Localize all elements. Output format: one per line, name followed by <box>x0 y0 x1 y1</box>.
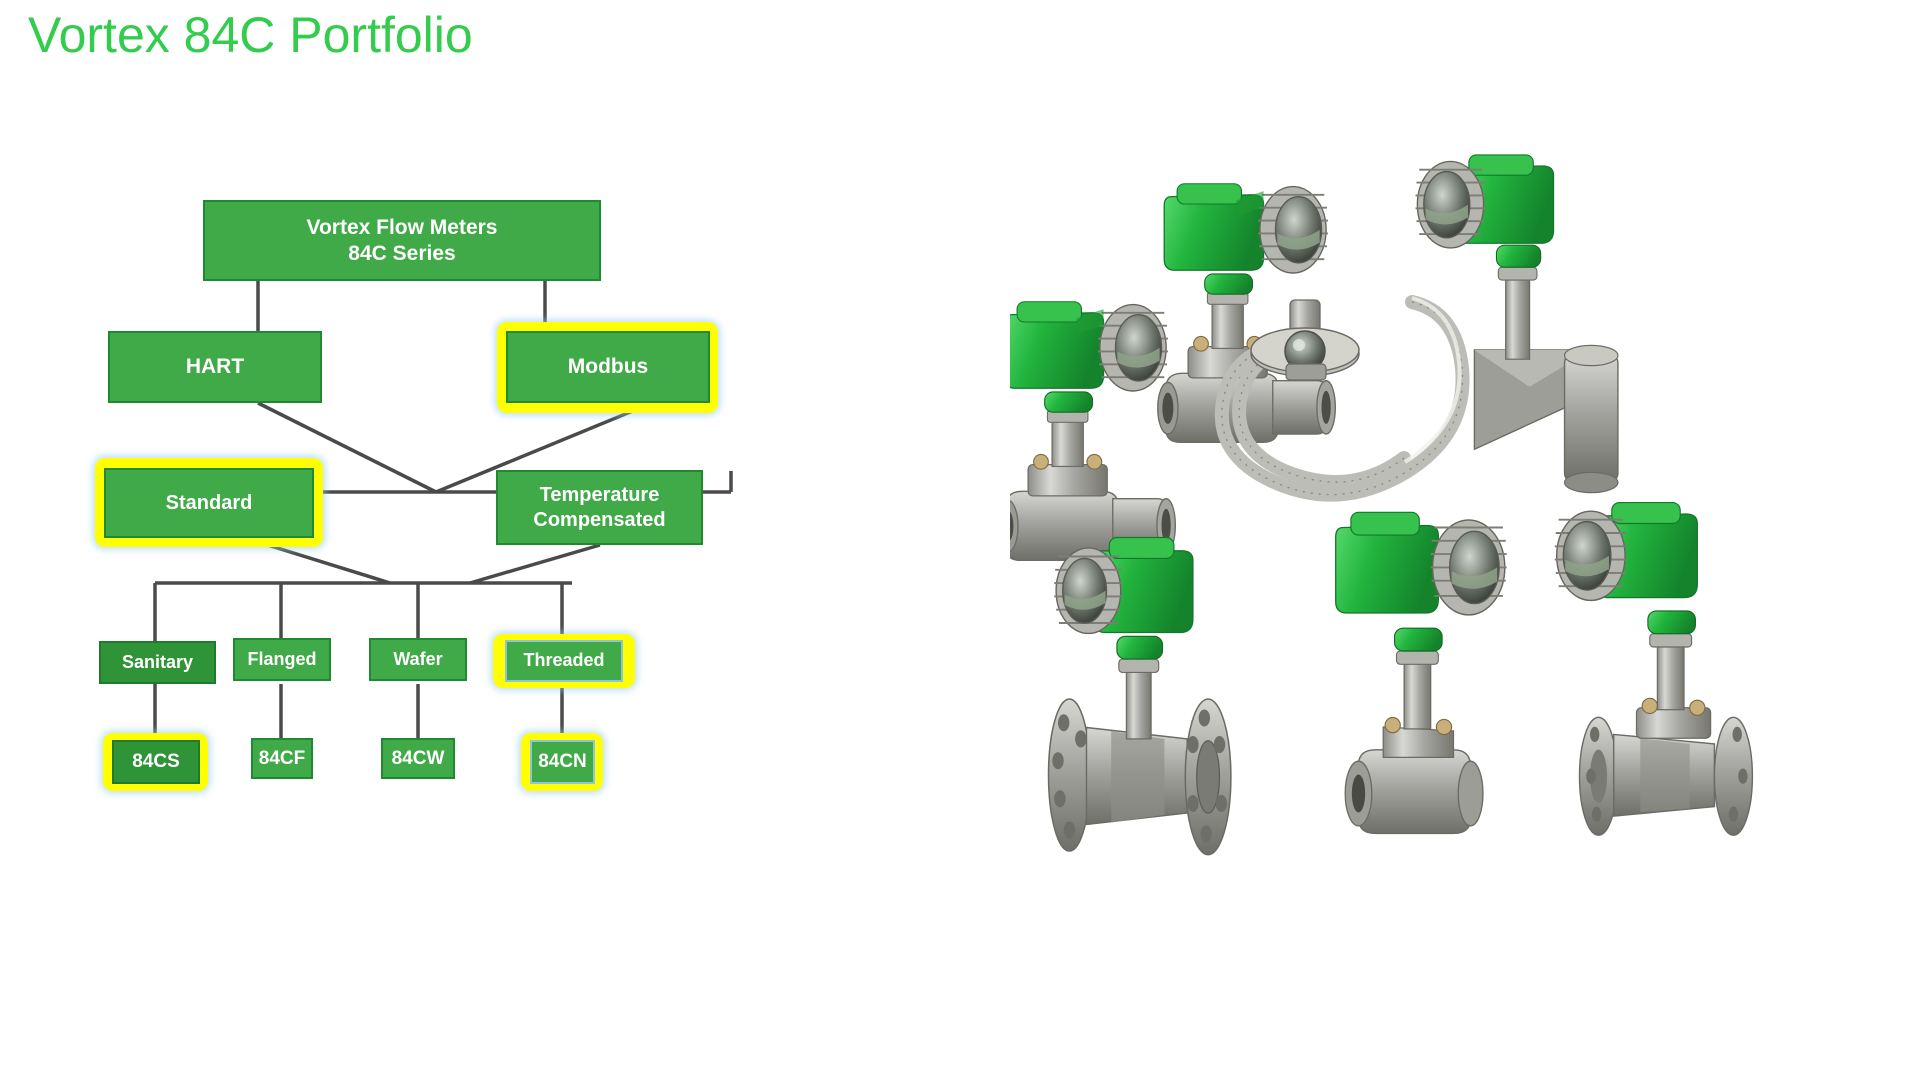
node-model-84cn[interactable]: 84CN <box>530 740 595 784</box>
node-root[interactable]: Vortex Flow Meters 84C Series <box>203 200 601 281</box>
product-meter-threaded-left <box>1010 302 1175 561</box>
node-model-84cs[interactable]: 84CS <box>112 740 200 784</box>
product-meter-threaded-lower-center <box>1336 512 1507 833</box>
node-standard-label: Standard <box>106 491 312 515</box>
node-tempcomp-line1: Temperature <box>498 483 701 507</box>
product-photo-art <box>1010 130 1840 860</box>
node-threaded[interactable]: Threaded <box>505 640 623 682</box>
node-model-84cw[interactable]: 84CW <box>381 738 455 779</box>
node-hart-label: HART <box>110 354 320 380</box>
node-flanged[interactable]: Flanged <box>233 638 331 681</box>
node-84cn-label: 84CN <box>532 750 593 773</box>
node-sanitary-label: Sanitary <box>101 652 214 674</box>
node-model-84cf[interactable]: 84CF <box>251 738 313 779</box>
node-wafer-label: Wafer <box>371 649 465 671</box>
node-84cf-label: 84CF <box>253 747 311 770</box>
node-standard[interactable]: Standard <box>104 468 314 538</box>
node-threaded-label: Threaded <box>507 650 621 672</box>
product-photo-collage <box>1010 130 1840 860</box>
node-root-line1: Vortex Flow Meters <box>205 215 599 241</box>
node-84cs-label: 84CS <box>114 750 198 773</box>
slide-canvas: Vortex 84C Portfolio <box>0 0 1920 1080</box>
product-meter-wafer <box>1555 503 1753 836</box>
node-tempcomp-line2: Compensated <box>498 508 701 532</box>
node-modbus-label: Modbus <box>508 354 708 380</box>
product-meter-flanged <box>1049 538 1231 855</box>
node-hart[interactable]: HART <box>108 331 322 403</box>
node-temperature-compensated[interactable]: Temperature Compensated <box>496 470 703 545</box>
node-modbus[interactable]: Modbus <box>506 331 710 403</box>
node-84cw-label: 84CW <box>383 747 453 770</box>
node-sanitary[interactable]: Sanitary <box>99 641 216 684</box>
portfolio-tree-diagram: Vortex Flow Meters 84C Series HART Modbu… <box>0 0 900 1080</box>
node-flanged-label: Flanged <box>235 649 329 671</box>
node-wafer[interactable]: Wafer <box>369 638 467 681</box>
node-root-line2: 84C Series <box>205 241 599 267</box>
